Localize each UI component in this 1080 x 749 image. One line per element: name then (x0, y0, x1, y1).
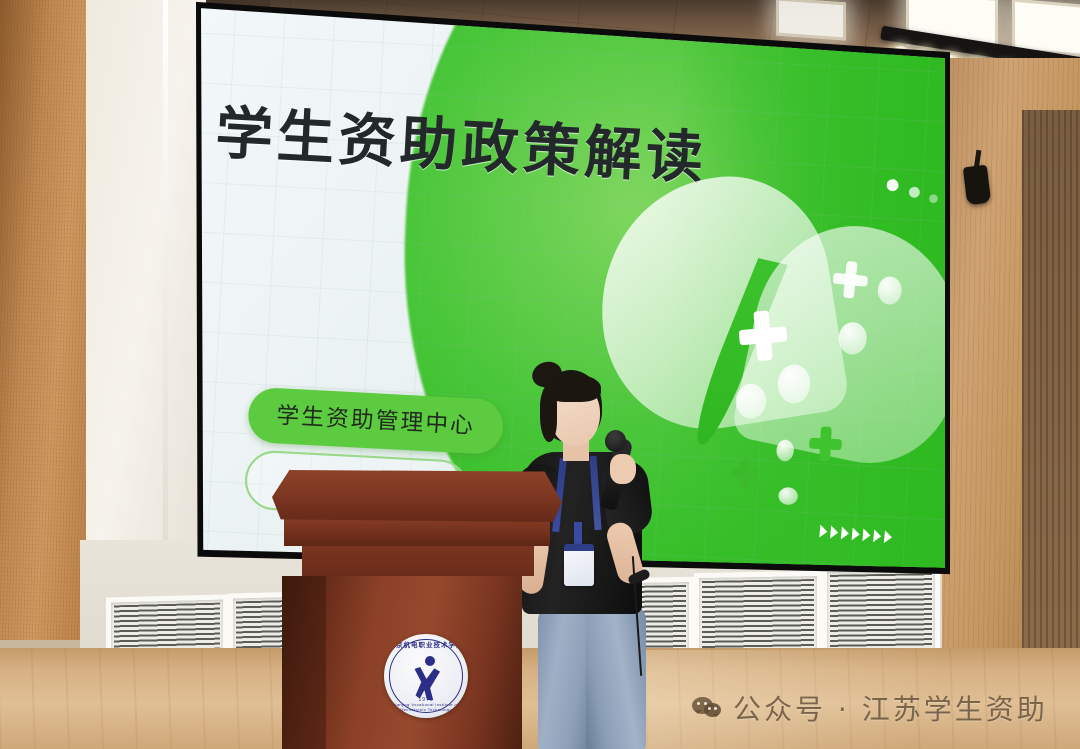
emblem-english-text: Nanjing Vocational Institute of Mechatro… (384, 702, 468, 712)
podium-column-side (282, 576, 326, 749)
chevron-right-icon (884, 530, 893, 544)
wechat-eye (697, 702, 700, 705)
chevron-right-icon (852, 527, 861, 541)
watermark-text: 公众号 · 江苏学生资助 (733, 688, 1048, 728)
school-emblem: 南京机电职业技术学院 1978 Nanjing Vocational Insti… (384, 634, 468, 718)
podium-neck (302, 542, 534, 576)
podium: 南京机电职业技术学院 1978 Nanjing Vocational Insti… (272, 470, 562, 749)
chevron-right-icon (841, 526, 850, 540)
wall-panel-right-dark (1022, 110, 1080, 670)
chevron-right-icon (862, 528, 871, 542)
chevron-right-icon (830, 526, 839, 540)
chevron-right-icon (819, 525, 828, 539)
presenter-side-hair (540, 394, 557, 442)
wechat-eye (714, 707, 717, 710)
emblem-chinese-text: 南京机电职业技术学院 (384, 639, 468, 649)
wechat-bubble-small (704, 703, 721, 717)
cross-icon (737, 309, 789, 363)
emblem-figure-body (414, 667, 440, 700)
screenshot-scene: 学生资助政策解读 学生资助管理中心 2025年5月 (0, 0, 1080, 749)
wall-speaker (963, 165, 991, 206)
wechat-eye (708, 707, 711, 710)
cross-icon (731, 459, 758, 488)
watermark: 公众号 · 江苏学生资助 (692, 688, 1048, 728)
chevron-right-icon (873, 529, 882, 543)
emblem-figure-icon (414, 656, 440, 700)
emblem-figure-head (425, 656, 435, 666)
wall-panel-left-fabric (0, 0, 92, 640)
cross-icon (831, 260, 869, 300)
ceiling-light (776, 0, 846, 40)
wechat-icon (692, 696, 722, 720)
presenter-hand-right (610, 454, 636, 484)
podium-desktop (272, 470, 562, 522)
id-badge (564, 544, 594, 586)
cross-icon (808, 426, 842, 462)
